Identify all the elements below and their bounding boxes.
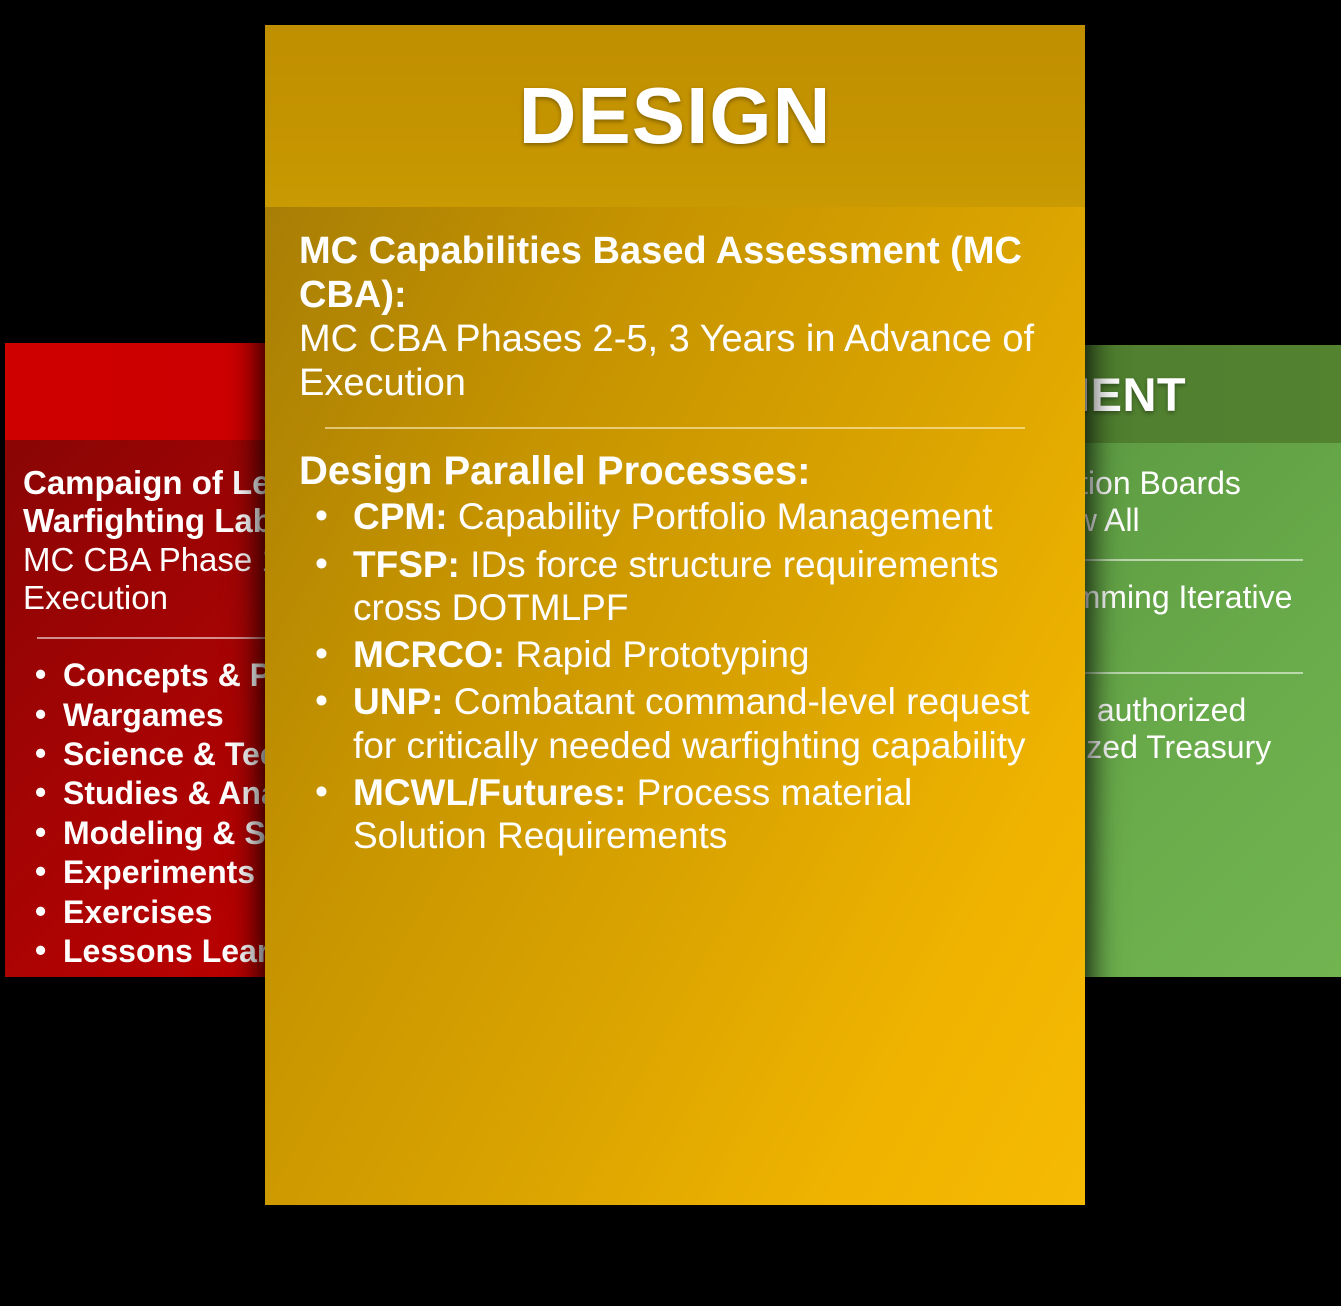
- card-design-subheading: Design Parallel Processes:: [299, 449, 1051, 493]
- card-design-lead-regular: MC CBA Phases 2-5, 3 Years in Advance of…: [299, 318, 1034, 404]
- list-item: MCRCO: Rapid Prototyping: [299, 633, 1051, 676]
- bullet-term: CPM:: [353, 496, 448, 537]
- bullet-text: Rapid Prototyping: [515, 634, 809, 675]
- bullet-term: MCWL/Futures:: [353, 772, 626, 813]
- card-design-lead-bold: MC Capabilities Based Assessment (MC CBA…: [299, 230, 1022, 316]
- bullet-term: MCRCO:: [353, 634, 505, 675]
- card-design-body: MC Capabilities Based Assessment (MC CBA…: [265, 207, 1085, 1205]
- bullet-term: TFSP:: [353, 544, 460, 585]
- bullet-text: Combatant command-level request for crit…: [353, 681, 1030, 765]
- slide-canvas: PLAN Campaign of Learning (CoL) Marine C…: [0, 0, 1341, 1306]
- card-design[interactable]: DESIGN MC Capabilities Based Assessment …: [265, 25, 1085, 1205]
- card-design-lead: MC Capabilities Based Assessment (MC CBA…: [299, 229, 1051, 405]
- bullet-label: Wargames: [63, 697, 224, 733]
- list-item: MCWL/Futures: Process material Solution …: [299, 771, 1051, 858]
- card-design-bullet-list: CPM: Capability Portfolio Management TFS…: [299, 495, 1051, 857]
- card-design-header: DESIGN: [265, 25, 1085, 207]
- bullet-term: UNP:: [353, 681, 443, 722]
- list-item: TFSP: IDs force structure requirements c…: [299, 543, 1051, 630]
- card-design-divider: [325, 427, 1025, 429]
- bullet-label: Exercises: [63, 894, 212, 930]
- list-item: UNP: Combatant command-level request for…: [299, 680, 1051, 767]
- bullet-text: Capability Portfolio Management: [458, 496, 993, 537]
- list-item: CPM: Capability Portfolio Management: [299, 495, 1051, 538]
- card-design-title: DESIGN: [519, 70, 832, 162]
- bullet-label: Experiments: [63, 854, 255, 890]
